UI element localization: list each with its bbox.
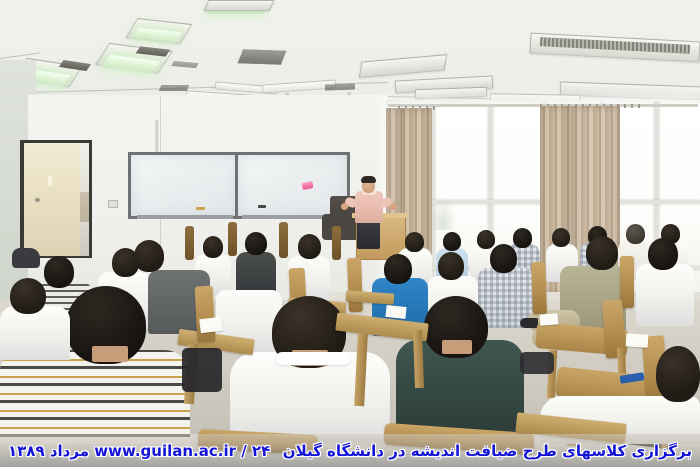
student-head xyxy=(648,238,678,270)
chair-backrest xyxy=(531,262,547,314)
chair-backrest xyxy=(228,222,237,256)
chair-backrest xyxy=(347,258,363,312)
caption-website-and-date: www.guilan.ac.ir / ۲۴ مرداد ۱۳۸۹ xyxy=(8,442,270,460)
whiteboard-marker[interactable] xyxy=(196,207,205,210)
whiteboard-marker[interactable] xyxy=(258,205,266,208)
student-head xyxy=(298,234,321,259)
wall-socket[interactable] xyxy=(108,200,118,208)
whiteboard-tray xyxy=(137,215,233,219)
student-neck xyxy=(92,346,128,362)
chair-backrest xyxy=(185,226,194,260)
student-neck xyxy=(442,340,472,354)
speaker-hair xyxy=(361,176,376,183)
paper-on-desk[interactable] xyxy=(385,305,406,319)
bag-under-seat xyxy=(520,352,554,374)
student-head xyxy=(490,244,517,273)
ceiling-vent xyxy=(325,83,355,90)
chair-backrest xyxy=(332,226,341,260)
speaker-shirt xyxy=(355,191,383,223)
caption-headline: برگزاری کلاسهای طرح ضیافت اندیشه در دانش… xyxy=(283,442,692,460)
open-door[interactable] xyxy=(24,143,80,256)
student-head xyxy=(203,236,223,258)
caption-bar: www.guilan.ac.ir / ۲۴ مرداد ۱۳۸۹ برگزاری… xyxy=(0,434,700,467)
student-head xyxy=(477,230,495,249)
ceiling-vent xyxy=(159,85,189,91)
student-head xyxy=(443,232,461,251)
whiteboard-panel-left xyxy=(128,152,241,219)
student-head xyxy=(10,278,46,314)
photograph-classroom-lecture: F xyxy=(0,0,700,467)
paper-on-desk[interactable] xyxy=(199,317,223,334)
student-torso xyxy=(0,306,70,360)
student-head xyxy=(384,254,412,284)
bag-on-floor xyxy=(12,248,40,268)
student-head xyxy=(586,236,618,270)
paper-on-desk[interactable] xyxy=(626,333,649,348)
ceiling-light-fixture xyxy=(204,0,275,11)
plant-silhouette xyxy=(430,196,456,230)
student-torso xyxy=(636,264,694,326)
student-head xyxy=(44,256,74,288)
student-head xyxy=(405,232,424,252)
student-head xyxy=(513,228,532,248)
bag-under-seat xyxy=(182,348,222,392)
door-highlight xyxy=(48,175,52,186)
student-head xyxy=(656,346,700,402)
door-knob[interactable] xyxy=(35,198,40,202)
chair-backrest xyxy=(620,256,634,308)
student-torso xyxy=(0,350,190,444)
speaker-hand-left xyxy=(341,203,348,210)
student-head xyxy=(245,232,267,255)
chair-backrest xyxy=(279,222,288,258)
student-head xyxy=(134,240,164,272)
speaker-hand-right xyxy=(390,203,397,210)
speaker-trousers xyxy=(357,221,380,249)
paper-on-desk[interactable] xyxy=(540,313,559,326)
student-shoe xyxy=(520,318,538,328)
student-head xyxy=(626,224,645,244)
student-head xyxy=(552,228,570,247)
chair-backrest[interactable] xyxy=(195,286,216,343)
student-head xyxy=(438,252,464,280)
polo-collar xyxy=(276,352,350,365)
ceiling-vent xyxy=(238,49,287,65)
